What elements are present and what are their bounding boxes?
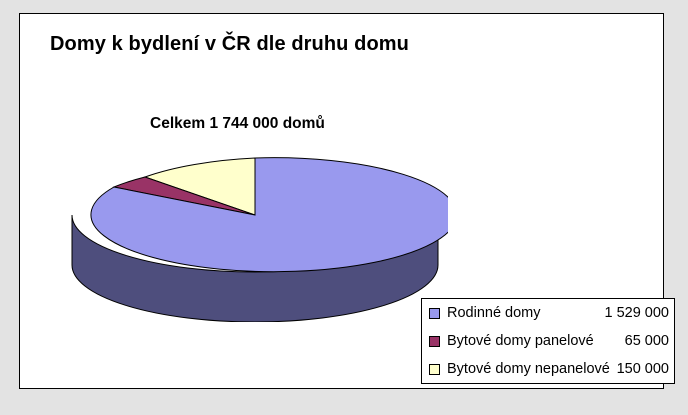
chart-frame: Domy k bydlení v ČR dle druhu domu Celke… xyxy=(19,13,664,389)
pie-chart-svg xyxy=(58,147,448,322)
chart-subtitle-total: Celkem 1 744 000 domů xyxy=(150,115,325,133)
legend-label-rodinne-domy: Rodinné domy xyxy=(447,305,541,321)
legend-label-bytove-domy-nepanelove: Bytové domy nepanelové xyxy=(447,361,610,377)
pie-slice-rodinne-domy xyxy=(91,158,448,272)
legend-value-bytove-domy-nepanelove: 150 000 xyxy=(617,361,669,377)
screenshot-root: Domy k bydlení v ČR dle druhu domu Celke… xyxy=(0,0,688,415)
legend-swatch-icon-bytove-domy-nepanelove xyxy=(429,364,440,375)
legend-swatch-icon-rodinne-domy xyxy=(429,308,440,319)
chart-legend: Rodinné domy 1 529 000 Bytové domy panel… xyxy=(421,298,675,384)
legend-item-bytove-domy-nepanelove[interactable]: Bytové domy nepanelové 150 000 xyxy=(422,355,674,383)
legend-swatch-icon-bytove-domy-panelove xyxy=(429,336,440,347)
pie-chart-3d xyxy=(58,147,448,322)
legend-item-rodinne-domy[interactable]: Rodinné domy 1 529 000 xyxy=(422,299,674,327)
legend-value-bytove-domy-panelove: 65 000 xyxy=(625,333,669,349)
legend-item-bytove-domy-panelove[interactable]: Bytové domy panelové 65 000 xyxy=(422,327,674,355)
chart-title: Domy k bydlení v ČR dle druhu domu xyxy=(50,33,409,56)
legend-label-bytove-domy-panelove: Bytové domy panelové xyxy=(447,333,594,349)
legend-value-rodinne-domy: 1 529 000 xyxy=(604,305,669,321)
